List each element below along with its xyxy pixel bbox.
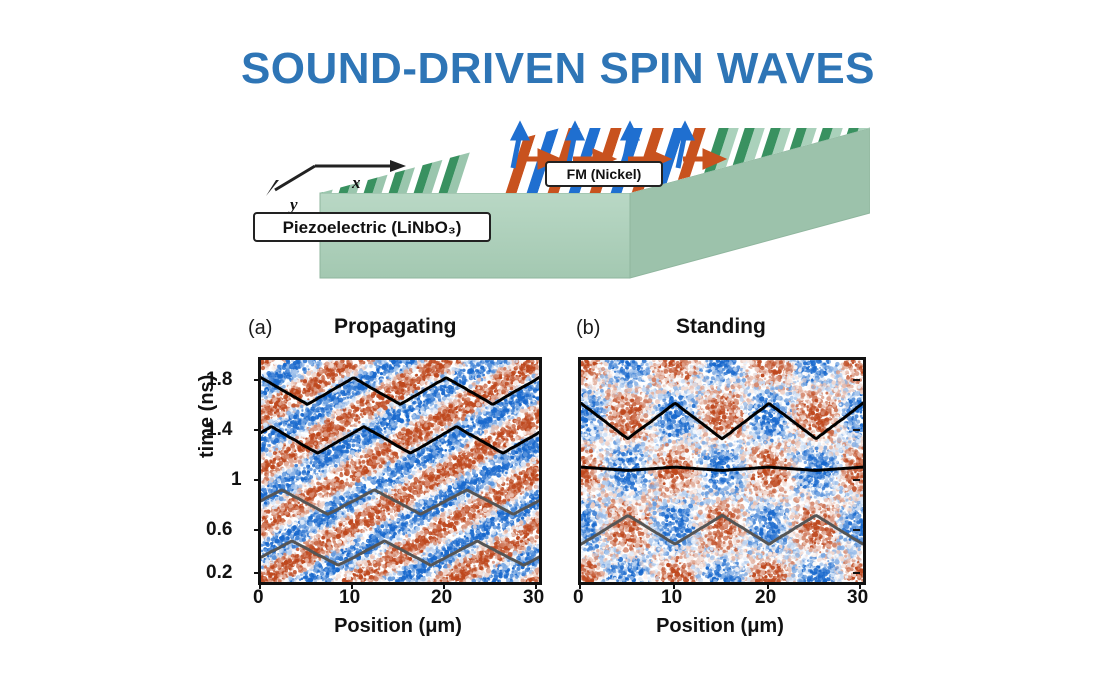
y-tick [254,429,261,431]
page-title: SOUND-DRIVEN SPIN WAVES [0,44,1116,94]
plot-area-propagating [258,357,542,585]
y-tick [853,529,860,531]
panel-a-title: Propagating [334,315,457,339]
y-tick-label: 0.2 [206,562,232,584]
axis-x-label: x [351,173,361,192]
x-tick-label: 10 [339,587,360,609]
axis-y-label: y [288,195,298,214]
y-tick-label: 0.6 [206,519,232,541]
y-tick [254,572,261,574]
x-tick-label: 0 [253,587,264,609]
y-tick [853,572,860,574]
x-tick-label: 10 [661,587,682,609]
y-tick [853,379,860,381]
y-tick [853,479,860,481]
x-axis-arrowhead [390,160,406,172]
figure-container: x y [0,118,1116,663]
x-tick-label: 20 [431,587,452,609]
plot-area-standing [578,357,866,585]
x-axis-label: Position (μm) [248,615,548,638]
panel-a-letter: (a) [248,317,272,340]
panel-b-letter: (b) [576,317,600,340]
x-tick-label: 30 [847,587,868,609]
device-schematic: x y [230,118,870,313]
panel-b-title: Standing [676,315,766,339]
y-tick-label: 1.8 [206,369,232,391]
x-tick-label: 0 [573,587,584,609]
film-label: FM (Nickel) [567,166,642,182]
y-tick [254,529,261,531]
y-tick [254,379,261,381]
x-tick-label: 20 [755,587,776,609]
film-label-box: FM (Nickel) [546,162,662,186]
substrate-label: Piezoelectric (LiNbO₃) [283,218,462,237]
y-tick [254,479,261,481]
x-tick-label: 30 [523,587,544,609]
y-tick-label: 1 [231,469,242,491]
x-axis-label: Position (μm) [570,615,870,638]
substrate-label-box: Piezoelectric (LiNbO₃) [254,213,490,241]
y-tick [853,429,860,431]
y-tick-label: 1.4 [206,419,232,441]
